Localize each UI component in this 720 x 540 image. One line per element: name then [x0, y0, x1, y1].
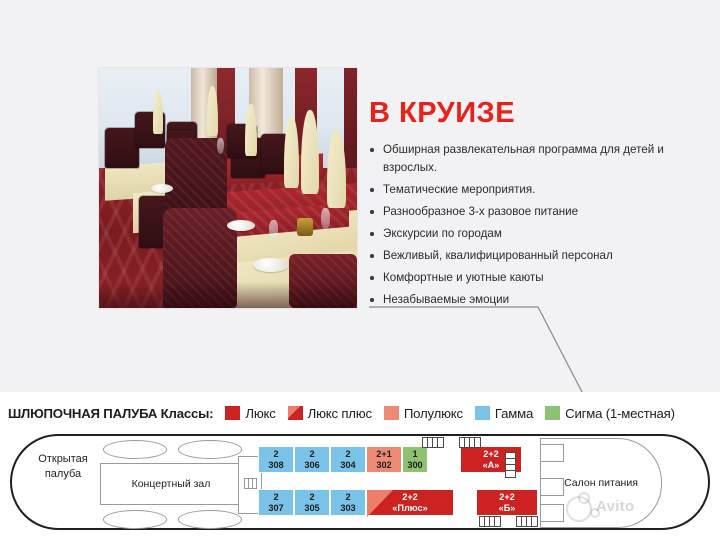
legend-title: ШЛЮПОЧНАЯ ПАЛУБА Классы: [8, 406, 213, 421]
watermark-logo-icon [590, 508, 600, 518]
open-deck-label: Открытая палуба [24, 452, 102, 483]
salon-nook [540, 478, 564, 496]
cabin-lux-b[interactable]: 2+2 «Б» [476, 489, 538, 516]
legend-label-polulux: Полулюкс [404, 406, 463, 421]
legend-item-lux-plus: Люкс плюс [288, 406, 372, 421]
cabin-berths: 2+2 [499, 492, 515, 502]
legend-swatch-lux-plus [288, 406, 303, 420]
cabin-berths: 2+1 [376, 449, 392, 459]
promo-panel: В КРУИЗЕ Обширная развлекательная програ… [0, 0, 720, 392]
list-item: Тематические мероприятия. [369, 181, 699, 199]
salon-nook [540, 444, 564, 462]
cabin-number: 304 [340, 460, 355, 470]
cabin-berths: 2 [309, 449, 314, 459]
legend-item-lux: Люкс [225, 406, 275, 421]
photo-glass [269, 220, 278, 240]
lifeboat [178, 510, 242, 529]
cabin-berths: 2 [273, 449, 278, 459]
promo-text-column: В КРУИЗЕ Обширная развлекательная програ… [369, 98, 699, 313]
cabin-number: «Плюс» [392, 503, 428, 513]
list-item: Разнообразное 3-х разовое питание [369, 203, 699, 221]
cabin-berths: 2 [345, 449, 350, 459]
cabin-number: 302 [376, 460, 391, 470]
lifeboat [103, 440, 167, 459]
cabin-number: 300 [407, 460, 422, 470]
photo-foreground-shadow [99, 282, 357, 308]
lifeboat [103, 510, 167, 529]
photo-plate [253, 258, 289, 272]
concert-hall: Концертный зал [100, 463, 242, 505]
list-item: Обширная развлекательная программа для д… [369, 141, 699, 177]
photo-curtain [344, 68, 357, 178]
legend-label-lux: Люкс [245, 406, 275, 421]
list-item: Комфортные и уютные каюты [369, 269, 699, 287]
legend-item-sigma: Сигма (1-местная) [545, 406, 675, 421]
photo-plate [151, 184, 173, 193]
cabin-berths: 2 [273, 492, 278, 502]
cabin-number: «Б» [499, 503, 516, 513]
cabin-number: 308 [268, 460, 283, 470]
photo-plate [227, 220, 255, 231]
cabin-berths: 2 [309, 492, 314, 502]
cabin-row-bottom: 2 307 2 305 2 303 2+2 «Плюс» 2+2 «Б» [258, 489, 538, 516]
legend-swatch-sigma [545, 406, 560, 420]
cabin-number: 303 [340, 503, 355, 513]
stairs-icon [459, 437, 481, 448]
cabin-row-top: 2 308 2 306 2 304 2+1 302 1 300 2+2 «А» [258, 446, 522, 473]
cabin-number: «А» [483, 460, 500, 470]
stairs-icon [516, 516, 538, 527]
photo-chair [105, 128, 139, 168]
cabin-306[interactable]: 2 306 [294, 446, 330, 473]
photo-glass [321, 208, 330, 230]
cabin-number: 306 [304, 460, 319, 470]
stairs-icon [244, 478, 257, 489]
cabin-berths: 2 [345, 492, 350, 502]
salon-nook [540, 504, 564, 522]
cabin-307[interactable]: 2 307 [258, 489, 294, 516]
legend-swatch-gamma [475, 406, 490, 420]
legend-label-sigma: Сигма (1-местная) [565, 406, 675, 421]
open-deck-line1: Открытая [24, 452, 102, 467]
cabin-300[interactable]: 1 300 [402, 446, 428, 473]
feature-list: Обширная развлекательная программа для д… [369, 141, 699, 309]
cabin-row-gap [454, 489, 476, 516]
cabin-308[interactable]: 2 308 [258, 446, 294, 473]
cabin-row-gap [428, 446, 460, 473]
watermark-logo-icon [578, 492, 590, 504]
cabin-302[interactable]: 2+1 302 [366, 446, 402, 473]
cabin-304[interactable]: 2 304 [330, 446, 366, 473]
list-item: Экскурсии по городам [369, 225, 699, 243]
page-title: В КРУИЗЕ [369, 98, 699, 128]
cabin-number: 305 [304, 503, 319, 513]
cabin-number: 307 [268, 503, 283, 513]
cabin-berths: 2+2 [402, 492, 418, 502]
legend-item-gamma: Гамма [475, 406, 533, 421]
photo-cruet-set [297, 218, 313, 236]
deck-plan: ШЛЮПОЧНАЯ ПАЛУБА Классы: Люкс Люкс плюс … [0, 392, 720, 540]
cabin-lux-plus[interactable]: 2+2 «Плюс» [366, 489, 454, 516]
legend-label-lux-plus: Люкс плюс [308, 406, 372, 421]
deck-legend: ШЛЮПОЧНАЯ ПАЛУБА Классы: Люкс Люкс плюс … [8, 403, 712, 423]
list-item: Вежливый, квалифицированный персонал [369, 247, 699, 265]
cabin-305[interactable]: 2 305 [294, 489, 330, 516]
legend-swatch-lux [225, 406, 240, 420]
legend-item-polulux: Полулюкс [384, 406, 463, 421]
stairs-icon [479, 516, 501, 527]
photo-glass [217, 138, 224, 154]
stairs-icon [422, 437, 444, 448]
legend-label-gamma: Гамма [495, 406, 533, 421]
list-item: Незабываемые эмоции [369, 291, 699, 309]
restaurant-photo [99, 68, 357, 308]
cabin-berths: 2+2 [483, 449, 499, 459]
cabin-303[interactable]: 2 303 [330, 489, 366, 516]
open-deck-line2: палуба [24, 467, 102, 482]
stairs-icon [505, 452, 516, 478]
lifeboat [178, 440, 242, 459]
cabin-berths: 1 [412, 449, 417, 459]
legend-swatch-polulux [384, 406, 399, 420]
